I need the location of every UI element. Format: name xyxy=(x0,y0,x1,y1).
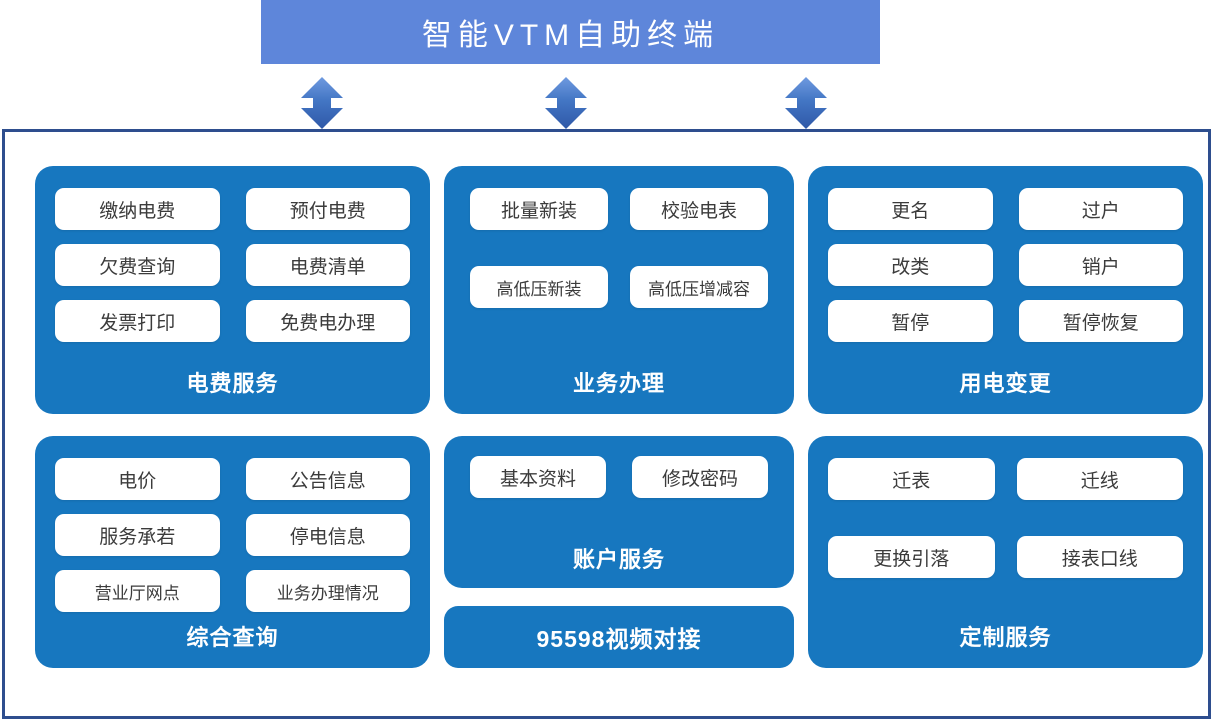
double-arrow-vertical-icon xyxy=(543,76,589,130)
service-item[interactable]: 高低压新装 xyxy=(470,266,608,308)
service-card-general-inquiry[interactable]: 电价 公告信息 服务承若 停电信息 营业厅网点 业务办理情况 综合查询 xyxy=(35,436,430,668)
service-item[interactable]: 电费清单 xyxy=(246,244,411,286)
service-card-usage-change[interactable]: 更名 过户 改类 销户 暂停 暂停恢复 用电变更 xyxy=(808,166,1203,414)
service-item[interactable]: 迁线 xyxy=(1017,458,1184,500)
service-item[interactable]: 批量新装 xyxy=(470,188,608,230)
service-card-electricity-fee[interactable]: 缴纳电费 预付电费 欠费查询 电费清单 发票打印 免费电办理 电费服务 xyxy=(35,166,430,414)
service-item[interactable]: 校验电表 xyxy=(630,188,768,230)
card-item-list: 电价 公告信息 服务承若 停电信息 营业厅网点 业务办理情况 xyxy=(55,458,410,612)
service-item[interactable]: 预付电费 xyxy=(246,188,411,230)
service-item[interactable]: 欠费查询 xyxy=(55,244,220,286)
card-item-list: 迁表 迁线 更换引落 接表口线 xyxy=(828,458,1183,578)
service-item[interactable]: 营业厅网点 xyxy=(55,570,220,612)
service-item[interactable]: 基本资料 xyxy=(470,456,606,498)
service-item[interactable]: 缴纳电费 xyxy=(55,188,220,230)
account-services-column: 基本资料 修改密码 账户服务 95598视频对接 xyxy=(444,436,794,668)
service-item[interactable]: 发票打印 xyxy=(55,300,220,342)
card-item-list: 缴纳电费 预付电费 欠费查询 电费清单 发票打印 免费电办理 xyxy=(55,188,410,342)
service-card-business-handling[interactable]: 批量新装 校验电表 高低压新装 高低压增减容 业务办理 xyxy=(444,166,794,414)
service-item[interactable]: 高低压增减容 xyxy=(630,266,768,308)
double-arrow-vertical-icon xyxy=(299,76,345,130)
card-item-list: 基本资料 修改密码 xyxy=(470,456,768,498)
service-card-account-services[interactable]: 基本资料 修改密码 账户服务 xyxy=(444,436,794,588)
card-item-list: 更名 过户 改类 销户 暂停 暂停恢复 xyxy=(828,188,1183,342)
video-link-banner[interactable]: 95598视频对接 xyxy=(444,606,794,668)
service-item[interactable]: 免费电办理 xyxy=(246,300,411,342)
service-item[interactable]: 公告信息 xyxy=(246,458,411,500)
service-item[interactable]: 更名 xyxy=(828,188,993,230)
service-item[interactable]: 电价 xyxy=(55,458,220,500)
service-item[interactable]: 暂停 xyxy=(828,300,993,342)
service-card-custom-services[interactable]: 迁表 迁线 更换引落 接表口线 定制服务 xyxy=(808,436,1203,668)
card-title: 综合查询 xyxy=(55,620,410,658)
card-item-list: 批量新装 校验电表 高低压新装 高低压增减容 xyxy=(470,188,768,308)
card-title: 账户服务 xyxy=(470,542,768,580)
card-title: 电费服务 xyxy=(55,366,410,404)
service-item[interactable]: 暂停恢复 xyxy=(1019,300,1184,342)
service-item[interactable]: 修改密码 xyxy=(632,456,768,498)
service-item[interactable]: 迁表 xyxy=(828,458,995,500)
service-card-grid: 缴纳电费 预付电费 欠费查询 电费清单 发票打印 免费电办理 电费服务 批量新装… xyxy=(35,166,1185,668)
service-item[interactable]: 停电信息 xyxy=(246,514,411,556)
service-item[interactable]: 业务办理情况 xyxy=(246,570,411,612)
service-item[interactable]: 接表口线 xyxy=(1017,536,1184,578)
page-title: 智能VTM自助终端 xyxy=(422,10,719,54)
card-title: 定制服务 xyxy=(828,620,1183,658)
service-item[interactable]: 服务承若 xyxy=(55,514,220,556)
service-item[interactable]: 改类 xyxy=(828,244,993,286)
service-item[interactable]: 更换引落 xyxy=(828,536,995,578)
double-arrow-vertical-icon xyxy=(783,76,829,130)
card-title: 用电变更 xyxy=(828,366,1183,404)
service-item[interactable]: 销户 xyxy=(1019,244,1184,286)
card-title: 业务办理 xyxy=(470,366,768,404)
service-item[interactable]: 过户 xyxy=(1019,188,1184,230)
terminal-panel: 缴纳电费 预付电费 欠费查询 电费清单 发票打印 免费电办理 电费服务 批量新装… xyxy=(2,129,1211,719)
header-banner: 智能VTM自助终端 xyxy=(261,0,880,64)
